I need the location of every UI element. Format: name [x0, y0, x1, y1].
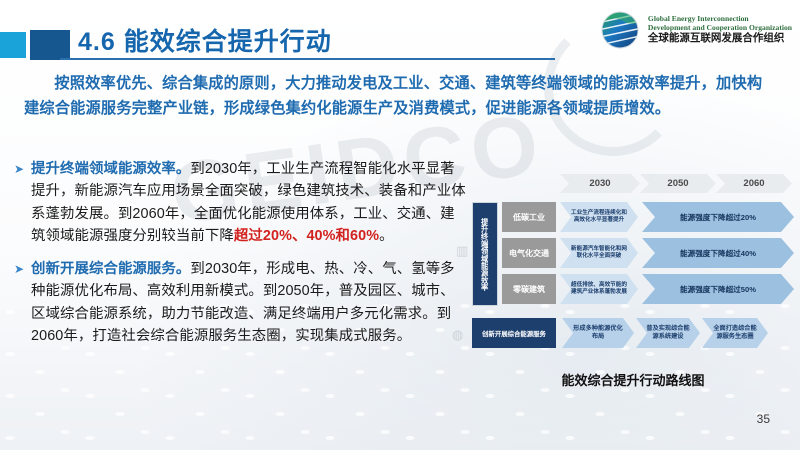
long-term-chevron: 能源强度下降超过20% — [642, 202, 794, 232]
bullet-text: 创新开展综合能源服务。到2030年，形成电、热、冷、气、氢等多种能源优化布局、高… — [31, 258, 466, 348]
logo-english-line2: Development and Cooperation Organization — [648, 24, 792, 33]
near-term-chevron: 工业生产流程连续化和高效化水平显著提升 — [560, 202, 638, 232]
logo-chinese-name: 全球能源互联网发展合作组织 — [648, 33, 792, 45]
year-chevron-2050: 2050 — [640, 174, 716, 193]
lead-paragraph: 按照效率优先、综合集成的原则，大力推动发电及工业、交通、建筑等终端领域的能源效率… — [24, 72, 776, 121]
long-term-chevron: 能源强度下降超过40% — [642, 238, 794, 268]
bullet-highlight: 超过20%、40%和60% — [234, 228, 379, 244]
organization-logo: Global Energy Interconnection Developmen… — [599, 6, 792, 54]
bullet-heading: 提升终端领域能源效率。 — [31, 161, 190, 177]
sector-box: 低碳工业 — [502, 202, 556, 232]
roadmap-vertical-label-text: 提升终端领域能源效率 — [480, 218, 489, 291]
header-accent-square-navy — [30, 30, 70, 60]
near-term-chevron: 超低排放、高效节能的建筑产业体系蓬勃发展 — [560, 274, 638, 304]
bullet-arrow-icon: ➤ — [14, 258, 26, 348]
roadmap-diagram: 2030 2050 2060 提升终端领域能源效率 低碳工业 工业生产流程连续化… — [472, 172, 794, 367]
bottom-step-chevron: 全面打造综合能源服务生态圈 — [702, 318, 768, 348]
globe-icon — [599, 9, 641, 51]
bullet-arrow-icon: ➤ — [14, 158, 26, 248]
sector-box: 零碳建筑 — [502, 274, 556, 304]
bottom-step-chevron: 普及实现综合能源系统建设 — [636, 318, 700, 348]
long-term-chevron: 能源强度下降超过50% — [642, 274, 794, 304]
page-number: 35 — [757, 412, 770, 426]
roadmap-year-header: 2030 2050 2060 — [560, 174, 792, 193]
roadmap-vertical-label: 提升终端领域能源效率 — [472, 202, 498, 306]
bullet-item: ➤ 创新开展综合能源服务。到2030年，形成电、热、冷、气、氢等多种能源优化布局… — [14, 258, 466, 348]
page-title: 4.6 能效综合提升行动 — [78, 22, 332, 58]
slide-canvas: GEIDCO 4.6 能效综合提升行动 — [0, 0, 800, 450]
roadmap-bottom-row: 创新开展综合能源服务 形成多种能源优化布局 普及实现综合能源系统建设 全面打造综… — [472, 318, 764, 348]
roadmap-caption: 能效综合提升行动路线图 — [472, 370, 794, 389]
globe-small-icon: ◍ — [452, 327, 463, 343]
body-text-column: ➤ 提升终端领域能源效率。到2030年，工业生产流程智能化水平显著提升，新能源汽… — [14, 158, 466, 358]
bullet-text: 提升终端领域能源效率。到2030年，工业生产流程智能化水平显著提升，新能源汽车应… — [31, 158, 466, 248]
header-divider — [60, 58, 555, 60]
bullet-item: ➤ 提升终端领域能源效率。到2030年，工业生产流程智能化水平显著提升，新能源汽… — [14, 158, 466, 248]
year-chevron-2060: 2060 — [716, 174, 792, 193]
bullet-body-tail: 。 — [379, 228, 394, 244]
bullet-heading: 创新开展综合能源服务。 — [31, 261, 190, 277]
header-accent-square-cyan — [0, 32, 26, 58]
near-term-chevron: 新能源汽车智能化和网联化水平全面突破 — [560, 238, 638, 268]
sector-box: 电气化交通 — [502, 238, 556, 268]
bottom-step-chevron: 形成多种能源优化布局 — [562, 318, 634, 348]
year-chevron-2030: 2030 — [560, 174, 640, 193]
chart-bar-icon: ▥ — [456, 243, 468, 259]
slide-header: 4.6 能效综合提升行动 — [0, 0, 800, 66]
bottom-row-label: 创新开展综合能源服务 — [472, 318, 556, 348]
